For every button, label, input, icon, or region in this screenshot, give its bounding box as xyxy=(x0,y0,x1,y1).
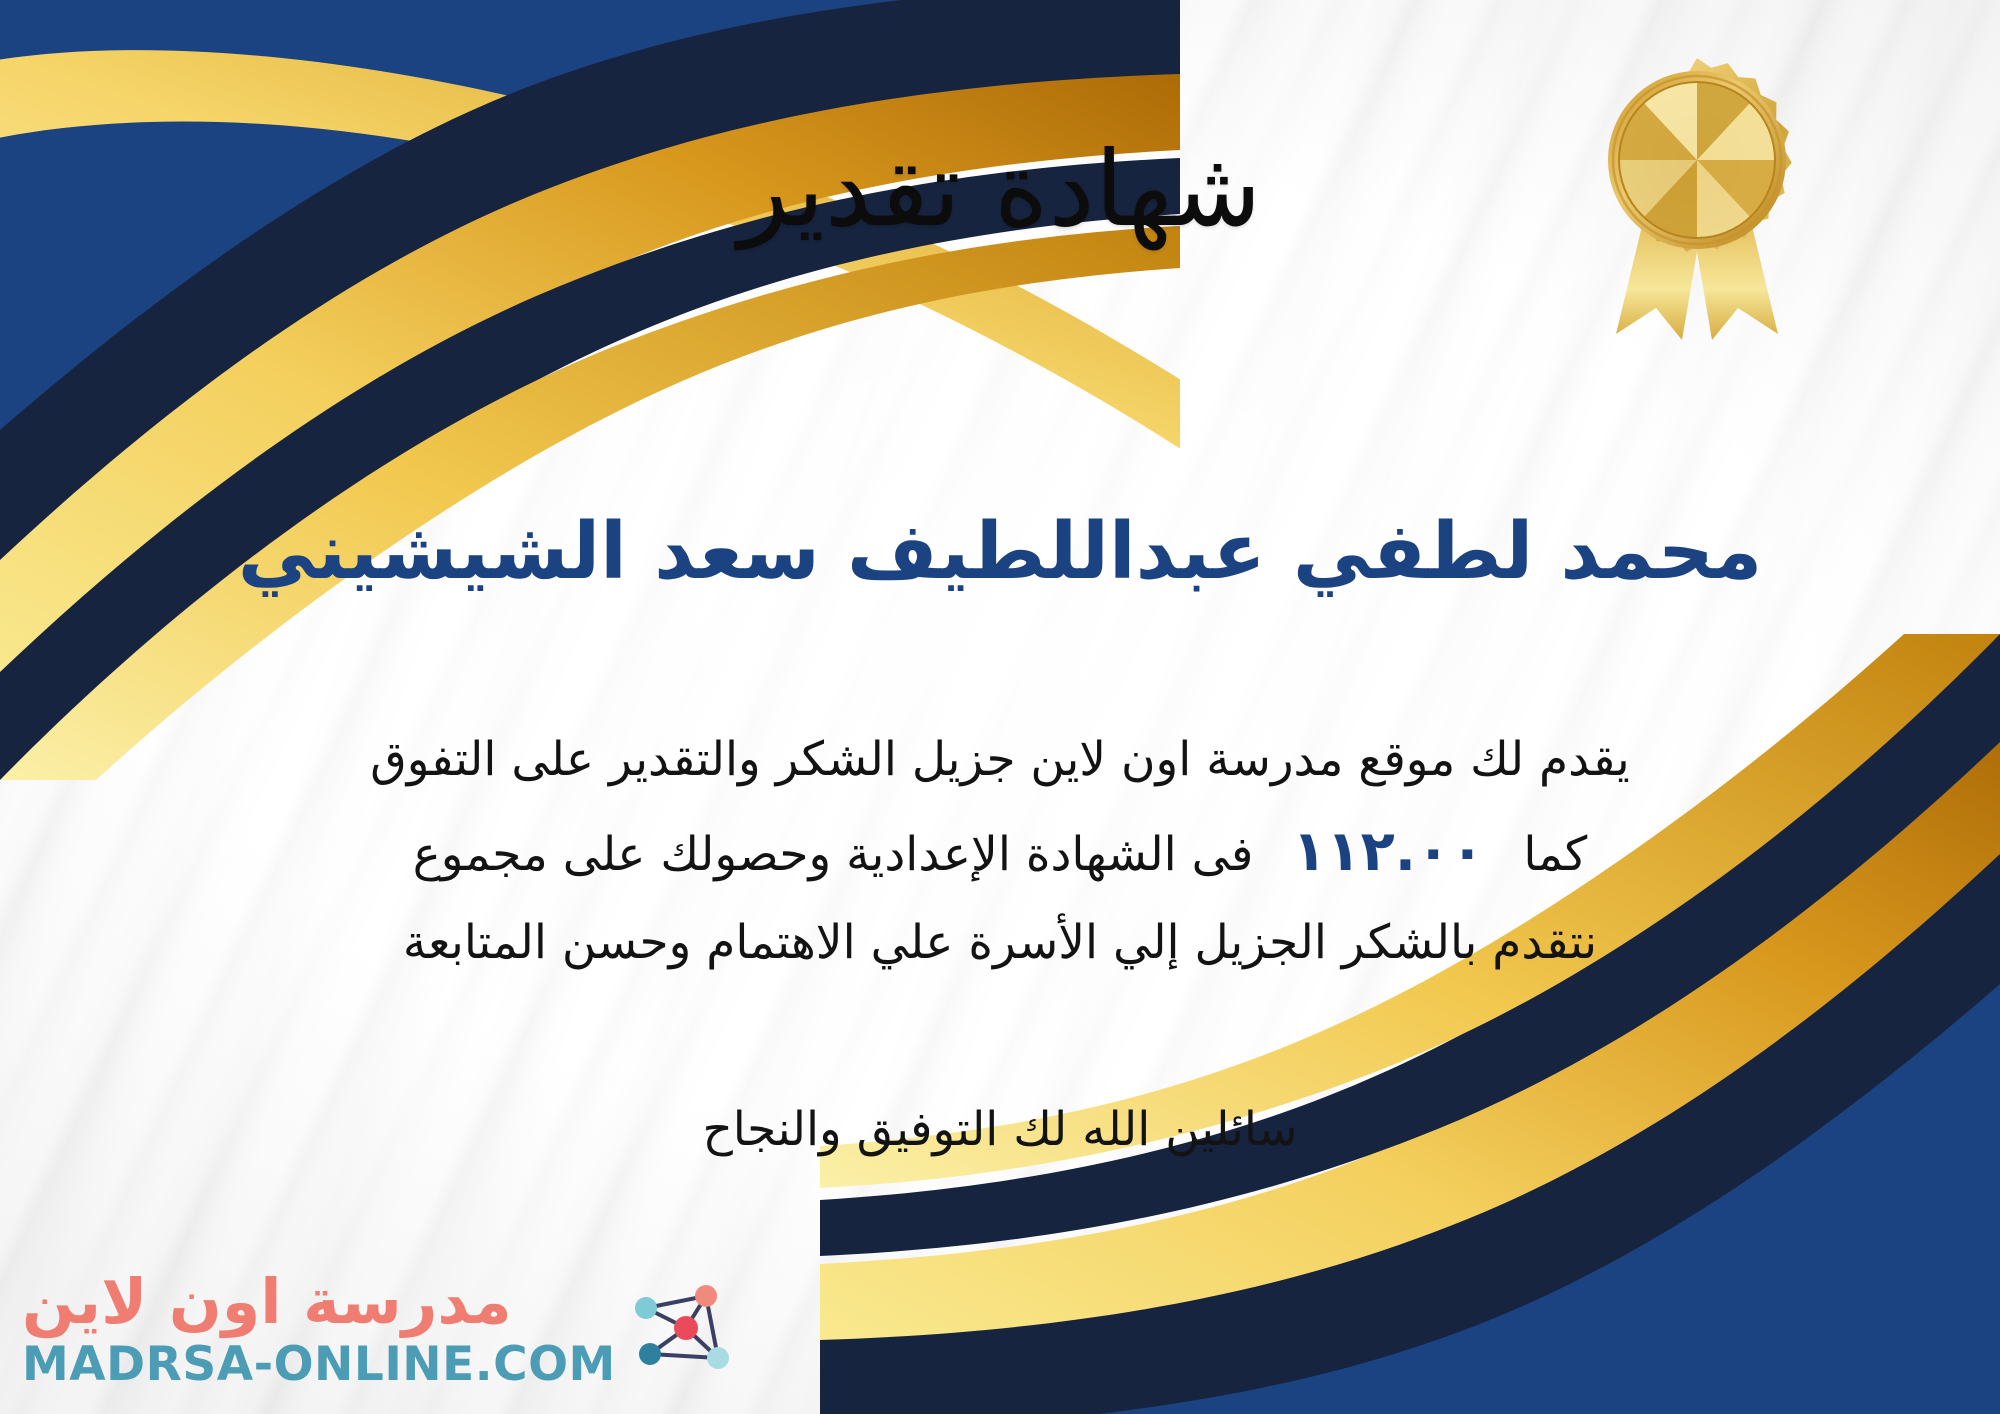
corner-decoration-top-left xyxy=(0,0,1180,780)
certificate-title: شهادة تقدير xyxy=(0,128,2000,251)
body-line-2-after-grade: كما xyxy=(1523,827,1587,882)
logo-latin-text: MADRSA-ONLINE.COM xyxy=(22,1339,616,1392)
grade-value: ١١٢.٠٠ xyxy=(1268,819,1508,884)
site-logo[interactable]: مدرسة اون لاين MADRSA-ONLINE.COM xyxy=(22,1271,734,1392)
body-line-1: يقدم لك موقع مدرسة اون لاين جزيل الشكر و… xyxy=(170,718,1830,802)
certificate-body: يقدم لك موقع مدرسة اون لاين جزيل الشكر و… xyxy=(170,718,1830,985)
gold-navy-swoosh-icon xyxy=(0,0,1180,780)
body-line-2-before-grade: فى الشهادة الإعدادية وحصولك على مجموع xyxy=(413,827,1254,882)
logo-text-group: مدرسة اون لاين MADRSA-ONLINE.COM xyxy=(22,1271,616,1392)
network-nodes-icon xyxy=(630,1280,734,1384)
certificate-page: شهادة تقدير محمد لطفي عبداللطيف سعد الشي… xyxy=(0,0,2000,1414)
network-nodes-graphic xyxy=(630,1280,734,1384)
logo-arabic-text: مدرسة اون لاين xyxy=(22,1271,512,1333)
body-line-2: كما ١١٢.٠٠ فى الشهادة الإعدادية وحصولك ع… xyxy=(170,802,1830,902)
body-line-3: نتقدم بالشكر الجزيل إلي الأسرة علي الاهت… xyxy=(170,901,1830,985)
closing-line: سائلين الله لك التوفيق والنجاح xyxy=(170,1092,1830,1167)
recipient-name: محمد لطفي عبداللطيف سعد الشيشيني xyxy=(90,505,1910,600)
